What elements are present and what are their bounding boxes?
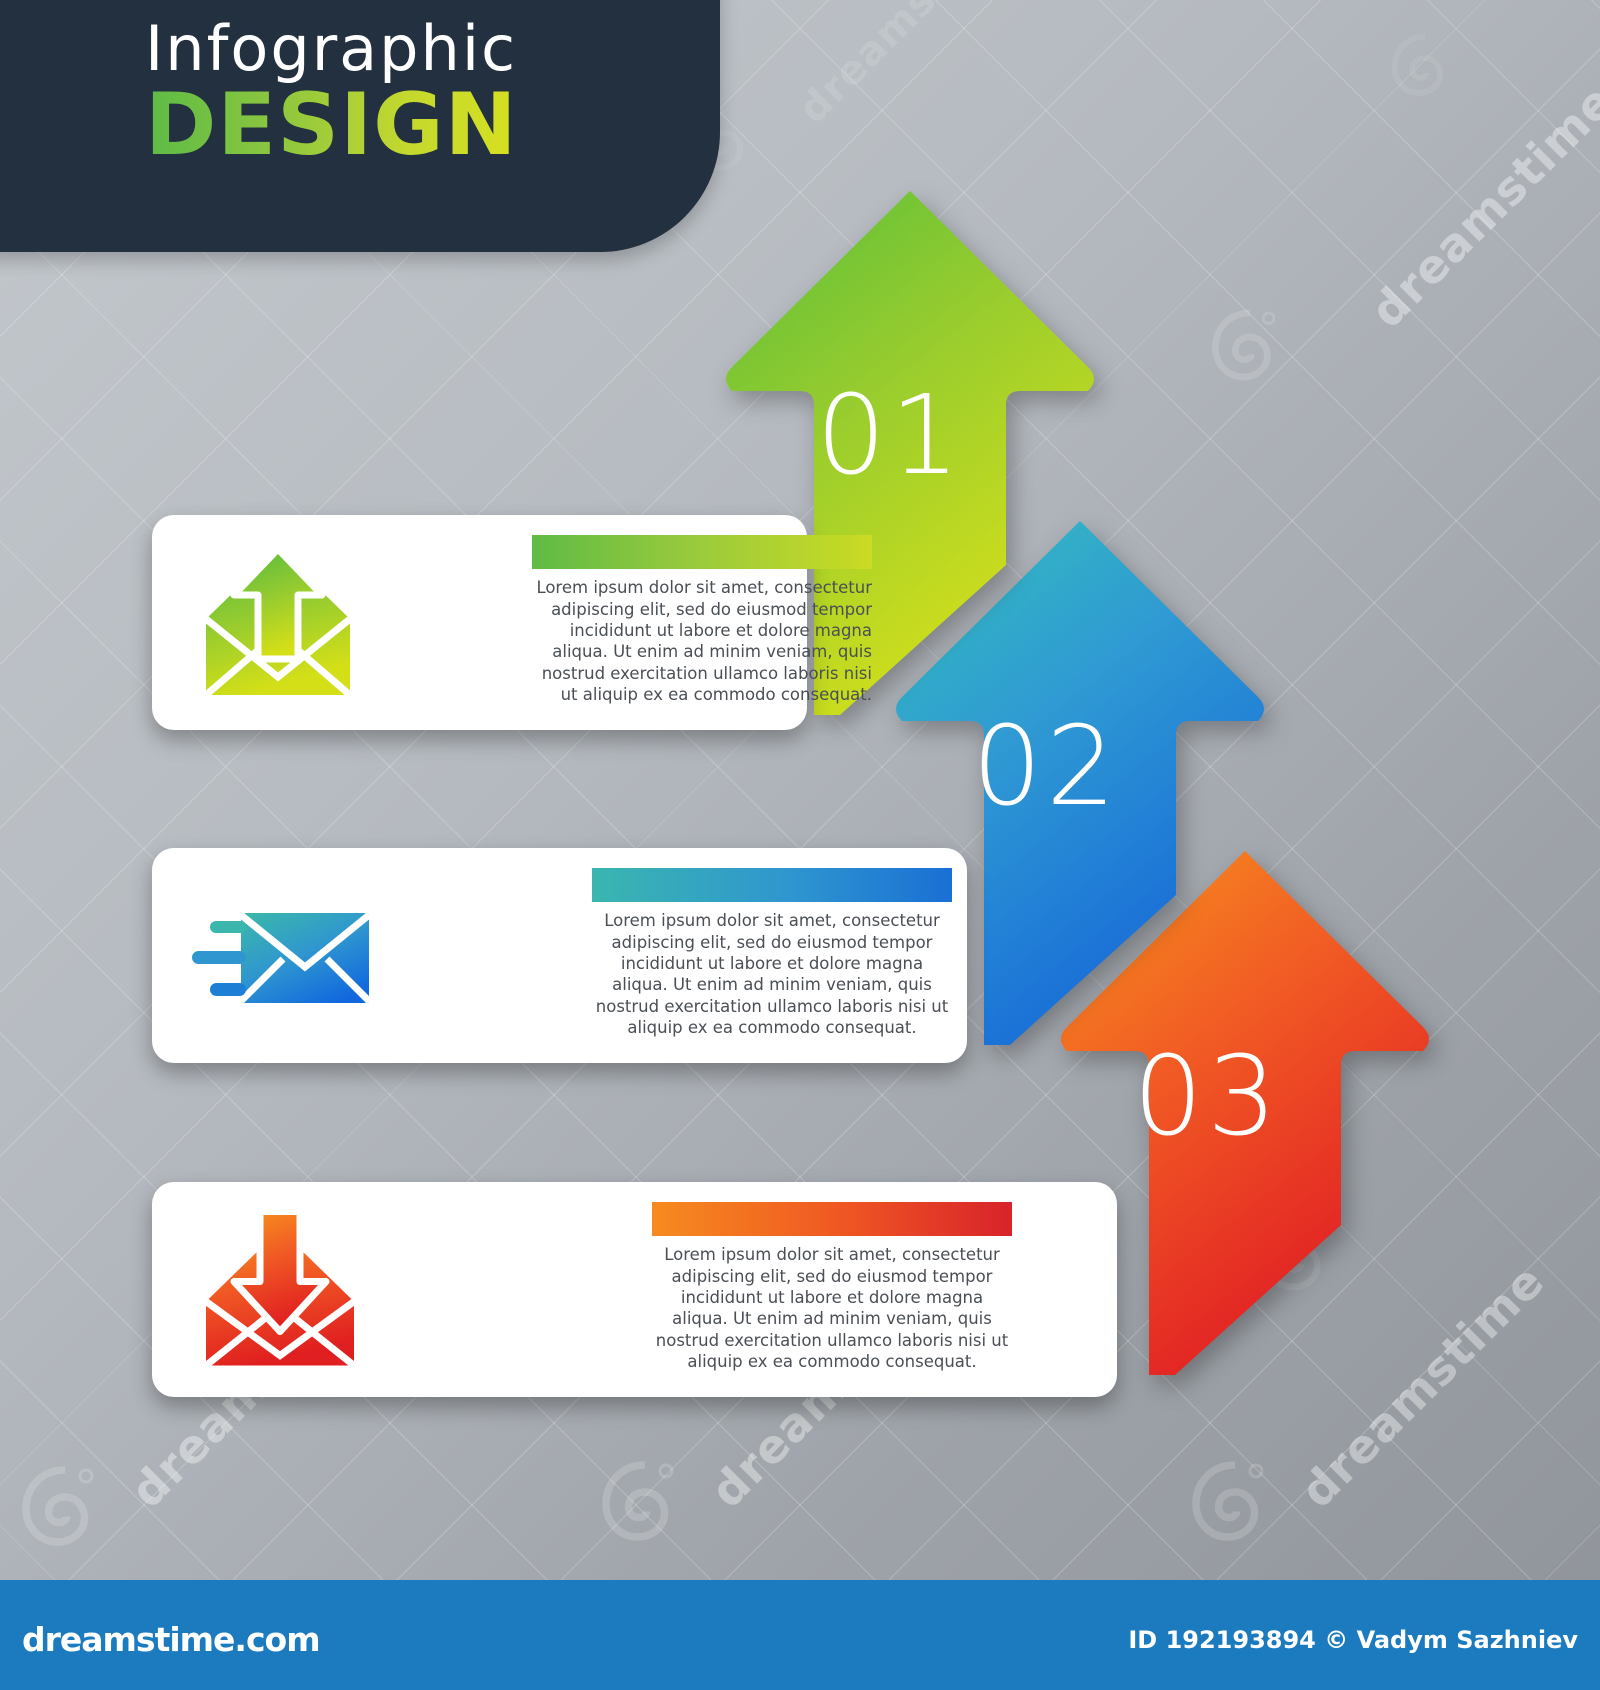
- step-card-03-description: Lorem ipsum dolor sit amet, consectetur …: [652, 1244, 1012, 1373]
- header-banner: Infographic DESIGN: [0, 0, 720, 252]
- footer-bar: dreamstime.com ID 192193894 © Vadym Sazh…: [0, 1580, 1600, 1690]
- envelope-up-arrow-icon: [188, 541, 368, 705]
- footer-credit: ID 192193894 © Vadym Sazhniev: [1128, 1626, 1578, 1654]
- dreamstime-spiral-icon: [20, 1460, 110, 1570]
- step-card-02[interactable]: Lorem ipsum Lorem ipsum dolor sit amet, …: [152, 848, 967, 1063]
- watermark-text: dreamstime: [790, 0, 1020, 133]
- dreamstime-spiral-icon: [600, 1455, 690, 1565]
- envelope-fast-send-icon: [188, 899, 378, 1013]
- step-card-03-title: Lorem ipsum: [652, 1202, 1012, 1236]
- step-card-01-title: Lorem ipsum: [532, 535, 872, 569]
- footer-brand: dreamstime.com: [22, 1620, 320, 1659]
- step-card-01-description: Lorem ipsum dolor sit amet, consectetur …: [532, 577, 872, 706]
- step-card-01[interactable]: Lorem ipsum Lorem ipsum dolor sit amet, …: [152, 515, 807, 730]
- step-card-02-title: Lorem ipsum: [592, 868, 952, 902]
- header-title-line1: Infographic: [145, 18, 517, 80]
- header-title-line2: DESIGN: [145, 82, 518, 168]
- dreamstime-spiral-icon: [1190, 1455, 1280, 1565]
- dreamstime-spiral-icon: [1210, 305, 1290, 401]
- step-card-01-body: Lorem ipsum Lorem ipsum dolor sit amet, …: [532, 535, 872, 706]
- step-card-02-body: Lorem ipsum Lorem ipsum dolor sit amet, …: [592, 868, 952, 1039]
- infographic-canvas: dreamstime dreamstime dreamstime dreamst…: [0, 0, 1600, 1690]
- step-card-03-body: Lorem ipsum Lorem ipsum dolor sit amet, …: [652, 1202, 1012, 1373]
- step-card-02-description: Lorem ipsum dolor sit amet, consectetur …: [592, 910, 952, 1039]
- watermark-text: dreamstime: [1360, 74, 1600, 339]
- dreamstime-spiral-icon: [1390, 30, 1460, 114]
- step-card-03[interactable]: Lorem ipsum Lorem ipsum dolor sit amet, …: [152, 1182, 1117, 1397]
- envelope-down-arrow-icon: [188, 1205, 373, 1374]
